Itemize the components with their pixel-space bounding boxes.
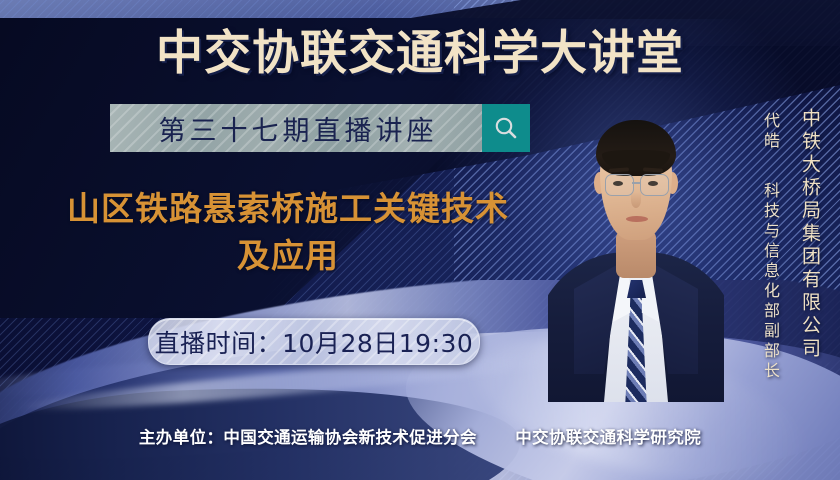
poster-header-title: 中交协联交通科学大讲堂 — [0, 14, 840, 83]
session-subtitle-label: 第三十七期直播讲座 — [155, 109, 438, 148]
live-time-box: 直播时间：10月28日19:30 — [148, 318, 480, 365]
portrait-nose — [631, 192, 641, 208]
portrait-glasses-right-lens — [640, 174, 669, 196]
speaker-portrait — [548, 102, 724, 402]
search-icon — [493, 115, 519, 141]
live-lecture-poster: 中交协联交通科学大讲堂 第三十七期直播讲座 山区铁路悬索桥施工关键技术 及应用 … — [0, 0, 840, 480]
portrait-glasses-bridge — [632, 182, 640, 184]
footer-institute-label: 中交协联交通科学研究院 — [515, 428, 701, 447]
lecture-title-line-1: 山区铁路悬索桥施工关键技术 — [28, 186, 548, 233]
portrait-glasses-left-lens — [605, 174, 634, 196]
session-subtitle-bar: 第三十七期直播讲座 — [110, 104, 530, 152]
search-icon-box[interactable] — [482, 104, 530, 152]
session-subtitle-fill: 第三十七期直播讲座 — [110, 104, 482, 152]
live-time-label: 直播时间：10月28日19:30 — [155, 324, 474, 360]
speaker-name: 代皓 — [758, 112, 782, 152]
speaker-organization: 中铁大桥局集团有限公司 — [797, 108, 824, 361]
poster-footer: 主办单位：中国交通运输协会新技术促进分会 中交协联交通科学研究院 — [0, 424, 840, 448]
lecture-main-title: 山区铁路悬索桥施工关键技术 及应用 — [28, 186, 548, 280]
portrait-hair — [596, 120, 676, 176]
portrait-mouth — [626, 216, 648, 222]
lecture-title-line-2: 及应用 — [28, 233, 548, 280]
speaker-role: 科技与信息化部副部长 — [758, 182, 782, 382]
footer-organizer-label: 主办单位：中国交通运输协会新技术促进分会 — [139, 428, 477, 447]
